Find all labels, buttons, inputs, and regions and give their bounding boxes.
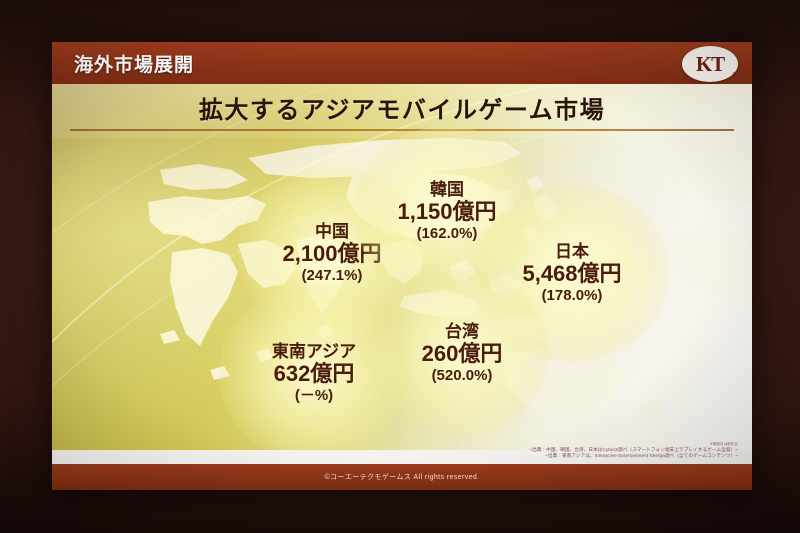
callout-growth: (178.0%) bbox=[492, 288, 652, 305]
screenshot-root: 海外市場展開 KT ® bbox=[0, 0, 800, 533]
slide-footer-bar: ©コーエーテクモゲームス All rights reserved. bbox=[52, 464, 752, 490]
callout-value: 2,100億円 bbox=[262, 242, 402, 267]
callout-growth: (247.1%) bbox=[262, 268, 402, 285]
callout-southeast-asia: 東南アジア 632億円 (－%) bbox=[234, 342, 394, 404]
callout-taiwan: 台湾 260億円 (520.0%) bbox=[392, 322, 532, 384]
slide-header-bar: 海外市場展開 KT ® bbox=[52, 42, 752, 84]
callout-value: 5,468億円 bbox=[492, 262, 652, 287]
callout-region-name: 台湾 bbox=[392, 322, 532, 341]
source-notes: ※現爲月は前年比 ~出典：中国、韓国、台湾、日本はCyberZ調べ（スマートフォ… bbox=[529, 443, 738, 460]
note-line-2: ~出典：東南アジアは、Interactive Entertainment She… bbox=[529, 453, 738, 460]
callout-region-name: 日本 bbox=[492, 242, 652, 261]
presentation-slide: 海外市場展開 KT ® bbox=[52, 42, 752, 490]
callout-value: 1,150億円 bbox=[372, 200, 522, 225]
callout-growth: (520.0%) bbox=[392, 368, 532, 385]
slide-header-title: 海外市場展開 bbox=[74, 50, 194, 77]
kt-logo: KT ® bbox=[682, 46, 738, 82]
registered-trademark-icon: ® bbox=[732, 72, 736, 78]
page-title: 拡大するアジアモバイルゲーム市場 bbox=[52, 90, 752, 125]
callout-growth: (162.0%) bbox=[372, 226, 522, 243]
slide-body: 拡大するアジアモバイルゲーム市場 中国 2,100億円 (247.1%) 韓国 … bbox=[52, 84, 752, 450]
kt-logo-text: KT bbox=[696, 52, 724, 77]
callout-value: 260億円 bbox=[392, 342, 532, 367]
callout-growth: (－%) bbox=[234, 388, 394, 405]
callout-value: 632億円 bbox=[234, 362, 394, 387]
title-divider bbox=[70, 129, 734, 131]
callout-region-name: 韓国 bbox=[372, 180, 522, 199]
callout-region-name: 東南アジア bbox=[234, 342, 394, 361]
callout-japan: 日本 5,468億円 (178.0%) bbox=[492, 242, 652, 304]
note-asterisk: ※現爲月は前年比 bbox=[529, 443, 738, 447]
copyright-text: ©コーエーテクモゲームス All rights reserved. bbox=[324, 472, 479, 482]
callout-korea: 韓国 1,150億円 (162.0%) bbox=[372, 180, 522, 242]
